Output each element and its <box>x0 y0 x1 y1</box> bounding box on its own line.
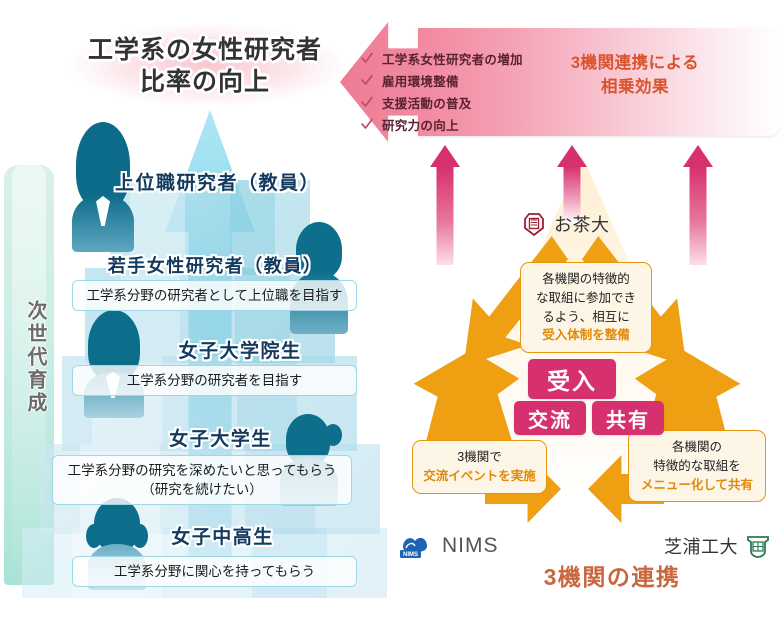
chip-kyouyuu: 共有 <box>592 401 664 435</box>
institution-nims-label: NIMS <box>442 534 499 558</box>
chip-kouryu: 交流 <box>514 401 586 435</box>
info-box-top-line1: 各機関の特徴的 <box>526 270 646 289</box>
check-icon <box>360 117 374 131</box>
level-goal-undergraduate-student: 工学系分野の研究を深めたいと思ってもらう （研究を続けたい） <box>52 455 352 505</box>
svg-text:NIMS: NIMS <box>403 552 418 558</box>
shibaura-crest-icon <box>744 532 772 560</box>
level-name-senior-researcher: 上位職研究者（教員） <box>100 168 335 195</box>
synergy-list-item-label: 研究力の向上 <box>382 115 459 134</box>
info-box-right-line1: 各機関の <box>634 438 760 457</box>
info-box-left-highlight: 交流イベントを実施 <box>418 467 541 486</box>
institution-shibaura: 芝浦工大 <box>664 532 772 560</box>
info-box-right-line2: 特徴的な取組を <box>634 457 760 476</box>
ochanomizu-crest-icon <box>520 210 548 238</box>
synergy-list-item: 研究力の向上 <box>360 114 550 134</box>
level-name-young-researcher: 若手女性研究者（教員） <box>95 252 335 278</box>
info-box-right-highlight: メニュー化して共有 <box>634 476 760 495</box>
level-goal-school-student: 工学系分野に関心を持ってもらう <box>72 556 357 587</box>
check-icon <box>360 73 374 87</box>
info-box-left: 3機関で 交流イベントを実施 <box>412 440 547 494</box>
silhouette-graduate-student <box>84 310 144 414</box>
info-box-top-highlight: 受入体制を整備 <box>526 326 646 345</box>
pink-up-arrow-right <box>683 145 713 265</box>
info-box-left-line1: 3機関で <box>418 448 541 467</box>
level-name-graduate-student: 女子大学院生 <box>140 336 340 363</box>
synergy-outcome-list: 工学系女性研究者の増加 雇用環境整備 支援活動の普及 <box>360 48 550 136</box>
institution-shibaura-label: 芝浦工大 <box>664 533 738 559</box>
institution-ochadai-label: お茶大 <box>554 211 610 237</box>
synergy-list-item-label: 支援活動の普及 <box>382 93 472 112</box>
level-goal-young-researcher: 工学系分野の研究者として上位職を目指す <box>72 280 357 311</box>
check-icon <box>360 95 374 109</box>
level-name-undergraduate-student: 女子大学生 <box>128 424 313 451</box>
pink-up-arrow-left <box>430 145 460 265</box>
synergy-banner: 工学系女性研究者の増加 雇用環境整備 支援活動の普及 <box>340 28 780 136</box>
synergy-list-item: 工学系女性研究者の増加 <box>360 48 550 68</box>
page-title-line1: 工学系の女性研究者 <box>55 34 355 66</box>
synergy-list-item: 雇用環境整備 <box>360 70 550 90</box>
institution-ochadai: お茶大 <box>520 210 610 238</box>
info-box-top-line3: るよう、相互に <box>526 308 646 327</box>
check-icon <box>360 51 374 65</box>
level-goal-line2: （研究を続けたい） <box>59 480 345 499</box>
next-generation-pyramid-panel: 次世代育成 工学系の女性研究者 比率の向上 <box>0 0 392 619</box>
page-title-line2: 比率の向上 <box>55 66 355 98</box>
level-name-school-student: 女子中高生 <box>130 522 315 549</box>
next-generation-label: 次世代育成 <box>8 300 50 415</box>
info-box-top: 各機関の特徴的 な取組に参加でき るよう、相互に 受入体制を整備 <box>520 262 652 353</box>
page-title: 工学系の女性研究者 比率の向上 <box>55 34 355 98</box>
synergy-heading-line2: 相乗効果 <box>555 76 715 100</box>
synergy-heading-line1: 3機関連携による <box>555 52 715 76</box>
synergy-list-item: 支援活動の普及 <box>360 92 550 112</box>
institution-nims: NIMS NIMS <box>400 533 499 559</box>
three-institution-collaboration-panel: 受入 交流 共有 各機関の特徴的 な取組に参加でき るよう、相互に 受入体制を整… <box>392 0 780 619</box>
level-goal-line1: 工学系分野の研究を深めたいと思ってもらう <box>59 461 345 480</box>
synergy-list-item-label: 工学系女性研究者の増加 <box>382 49 523 68</box>
infographic-root: 次世代育成 工学系の女性研究者 比率の向上 <box>0 0 780 619</box>
nims-logo-icon: NIMS <box>400 533 436 559</box>
level-goal-graduate-student: 工学系分野の研究者を目指す <box>72 365 357 396</box>
info-box-right: 各機関の 特徴的な取組を メニュー化して共有 <box>628 430 766 502</box>
synergy-heading: 3機関連携による 相乗効果 <box>555 52 715 100</box>
chip-uke-ire: 受入 <box>528 359 616 399</box>
synergy-list-item-label: 雇用環境整備 <box>382 71 459 90</box>
info-box-top-line2: な取組に参加でき <box>526 289 646 308</box>
collaboration-caption: 3機関の連携 <box>512 558 712 592</box>
